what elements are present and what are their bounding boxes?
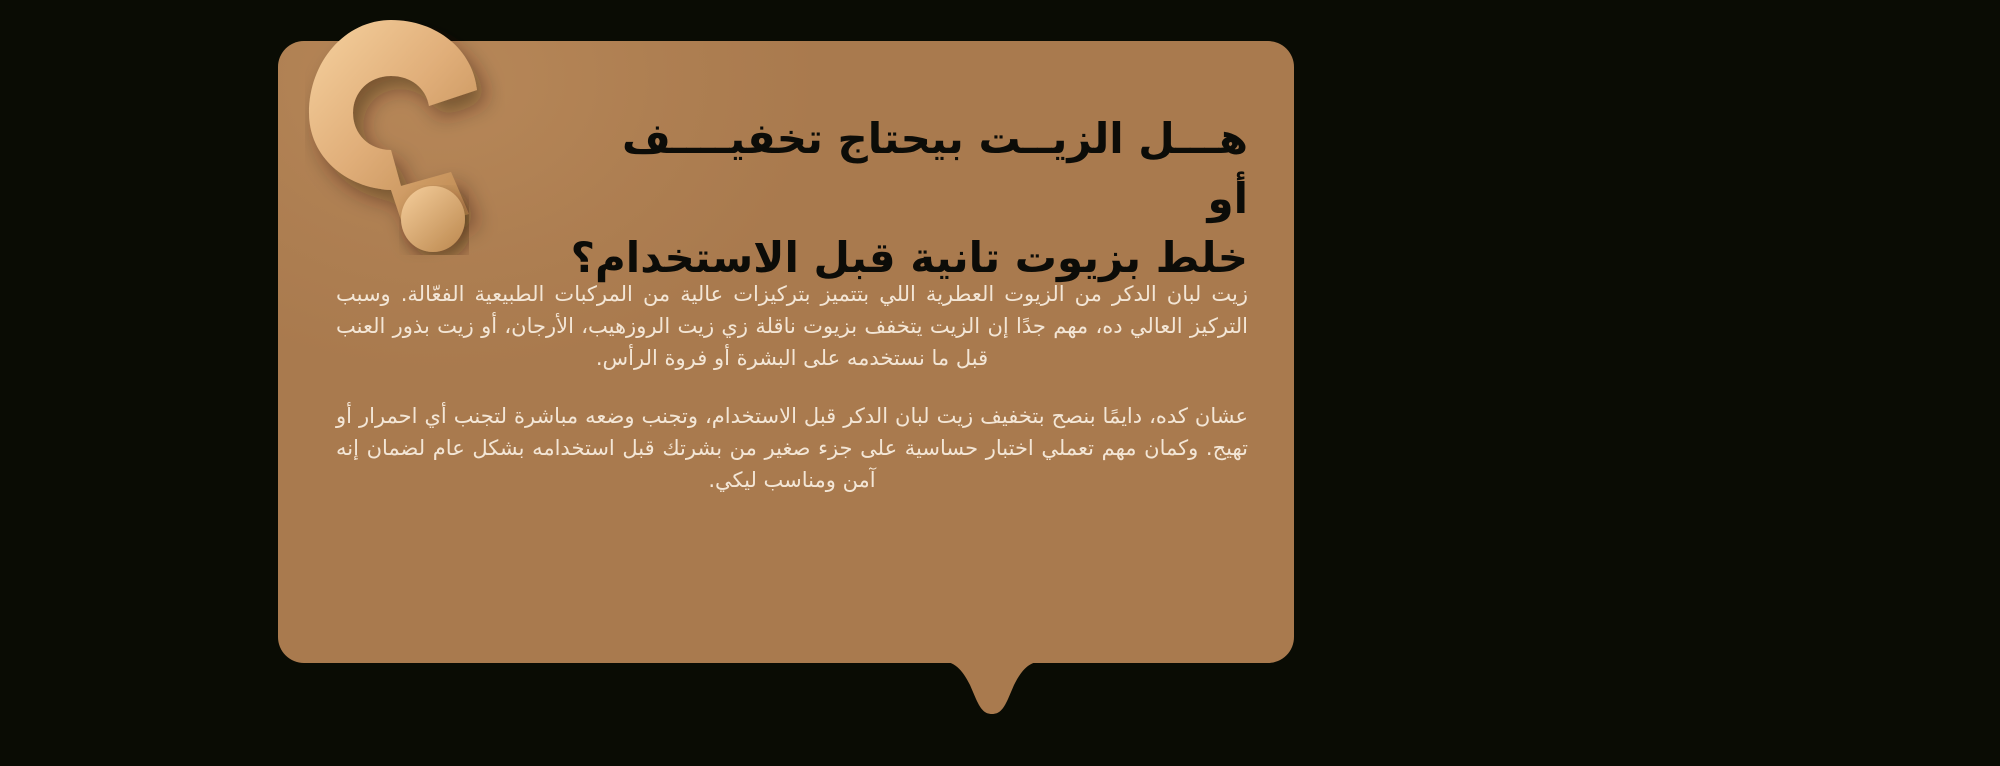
headline-line-2: خلط بزيوت تانية قبل الاستخدام؟ [571, 233, 1248, 282]
faq-card-canvas: هـــل الزيــت بيحتاج تخفيــــف أو خلط بز… [0, 0, 2000, 766]
speech-bubble-tail [926, 655, 1076, 750]
card-content: هـــل الزيــت بيحتاج تخفيــــف أو خلط بز… [318, 41, 1248, 663]
answer-body: زيت لبان الدكر من الزيوت العطرية اللي بت… [336, 279, 1248, 496]
headline-line-1: هـــل الزيــت بيحتاج تخفيــــف أو [622, 114, 1248, 223]
answer-paragraph-2: عشان كده، دايمًا بنصح بتخفيف زيت لبان ال… [336, 401, 1248, 497]
answer-paragraph-1: زيت لبان الدكر من الزيوت العطرية اللي بت… [336, 279, 1248, 375]
page-title: هـــل الزيــت بيحتاج تخفيــــف أو خلط بز… [568, 109, 1248, 288]
